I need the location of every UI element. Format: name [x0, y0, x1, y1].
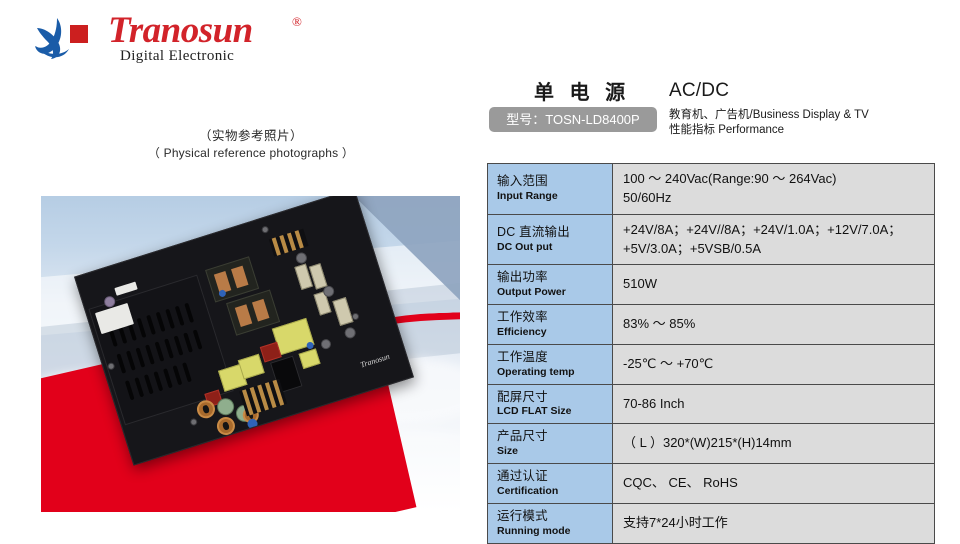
- spec-value-line1: 510W: [623, 275, 934, 294]
- spec-label-en: Running mode: [497, 525, 612, 538]
- capacitor-yellow: [299, 348, 321, 369]
- spec-label-en: Operating temp: [497, 366, 612, 379]
- spec-table: 输入范围 Input Range 100 ～ 240Vac(Range:90 ～…: [487, 163, 935, 544]
- spec-value-cell: CQC、 CE、 RoHS: [613, 464, 935, 504]
- table-row: 工作效率 Efficiency 83% ～ 85%: [488, 305, 935, 345]
- table-row: 运行模式 Running mode 支持7*24小时工作: [488, 503, 935, 543]
- spec-label-en: Size: [497, 445, 612, 458]
- spec-label-cn: 通过认证: [497, 469, 612, 485]
- spec-value-line1: +24V/8A；+24V//8A；+24V/1.0A；+12V/7.0A；: [623, 221, 934, 240]
- spec-label-cn: 工作效率: [497, 310, 612, 326]
- spec-label-cell: 输出功率 Output Power: [488, 265, 613, 305]
- spec-table-body: 输入范围 Input Range 100 ～ 240Vac(Range:90 ～…: [488, 164, 935, 544]
- acdc-title: AC/DC: [669, 80, 729, 102]
- spec-label-cell: 通过认证 Certification: [488, 464, 613, 504]
- spec-label-cell: DC 直流输出 DC Out put: [488, 214, 613, 265]
- photo-caption-cn: （实物参考照片）: [41, 128, 461, 145]
- spec-value-cell: 100 ～ 240Vac(Range:90 ～ 264Vac) 50/60Hz: [613, 164, 935, 215]
- table-row: DC 直流输出 DC Out put +24V/8A；+24V//8A；+24V…: [488, 214, 935, 265]
- inductor-coil: [215, 415, 238, 438]
- board-brand-silkscreen: Tranosun: [359, 352, 391, 370]
- spec-label-cell: 工作温度 Operating temp: [488, 344, 613, 384]
- spec-label-cn: 运行模式: [497, 509, 612, 525]
- spec-label-en: Input Range: [497, 190, 612, 203]
- table-row: 产品尺寸 Size （ L ）320*(W)215*(H)14mm: [488, 424, 935, 464]
- spec-label-cn: 输入范围: [497, 174, 612, 190]
- spec-label-en: Output Power: [497, 286, 612, 299]
- spec-value-cell: 83% ～ 85%: [613, 305, 935, 345]
- table-row: 配屏尺寸 LCD FLAT Size 70-86 Inch: [488, 384, 935, 424]
- spec-value-cell: 支持7*24小时工作: [613, 503, 935, 543]
- spec-label-cell: 产品尺寸 Size: [488, 424, 613, 464]
- spec-label-cell: 输入范围 Input Range: [488, 164, 613, 215]
- spec-value-cell: +24V/8A；+24V//8A；+24V/1.0A；+12V/7.0A； +5…: [613, 214, 935, 265]
- page-title: 单 电 源: [534, 76, 630, 105]
- table-row: 工作温度 Operating temp -25℃ ～ +70℃: [488, 344, 935, 384]
- spec-label-cn: 输出功率: [497, 270, 612, 286]
- spec-label-en: Certification: [497, 485, 612, 498]
- brand-subtitle: Digital Electronic: [120, 48, 234, 65]
- spec-label-en: LCD FLAT Size: [497, 405, 612, 418]
- spec-label-en: DC Out put: [497, 241, 612, 254]
- spec-value-line1: -25℃ ～ +70℃: [623, 355, 934, 374]
- spec-value-line1: CQC、 CE、 RoHS: [623, 474, 934, 493]
- spec-label-en: Efficiency: [497, 326, 612, 339]
- photo-caption-en: （ Physical reference photographs ）: [41, 145, 461, 161]
- photo-caption: （实物参考照片） （ Physical reference photograph…: [41, 128, 461, 161]
- spec-value-cell: （ L ）320*(W)215*(H)14mm: [613, 424, 935, 464]
- capacitor-yellow: [238, 354, 265, 380]
- spec-label-cn: DC 直流输出: [497, 225, 612, 241]
- spec-value-line1: 83% ～ 85%: [623, 315, 934, 334]
- registered-trademark-icon: ®: [292, 14, 302, 30]
- spec-value-line1: 支持7*24小时工作: [623, 514, 934, 533]
- table-row: 输入范围 Input Range 100 ～ 240Vac(Range:90 ～…: [488, 164, 935, 215]
- spec-label-cell: 运行模式 Running mode: [488, 503, 613, 543]
- spec-label-cell: 工作效率 Efficiency: [488, 305, 613, 345]
- brand-wordmark: Tranosun: [108, 12, 253, 49]
- table-row: 输出功率 Output Power 510W: [488, 265, 935, 305]
- product-photo: Tranosun: [41, 196, 460, 512]
- spec-value-line1: 70-86 Inch: [623, 395, 934, 414]
- performance-line: 性能指标 Performance: [669, 121, 784, 137]
- spec-label-cn: 配屏尺寸: [497, 390, 612, 406]
- spec-value-cell: 510W: [613, 265, 935, 305]
- spec-label-cell: 配屏尺寸 LCD FLAT Size: [488, 384, 613, 424]
- connector: [332, 297, 353, 326]
- application-line: 教育机、广告机/Business Display & TV: [669, 106, 869, 122]
- spec-value-cell: 70-86 Inch: [613, 384, 935, 424]
- spec-label-cn: 产品尺寸: [497, 429, 612, 445]
- spec-value-line2: 50/60Hz: [623, 189, 934, 208]
- spec-value-line1: 100 ～ 240Vac(Range:90 ～ 264Vac): [623, 170, 934, 189]
- spec-value-line2: +5V/3.0A；+5VSB/0.5A: [623, 240, 934, 259]
- table-row: 通过认证 Certification CQC、 CE、 RoHS: [488, 464, 935, 504]
- leaf-logo-icon: [33, 16, 99, 62]
- model-badge: 型号：TOSN-LD8400P: [489, 107, 657, 132]
- spec-label-cn: 工作温度: [497, 350, 612, 366]
- spec-value-line1: （ L ）320*(W)215*(H)14mm: [623, 434, 934, 453]
- spec-value-cell: -25℃ ～ +70℃: [613, 344, 935, 384]
- brand-header: Tranosun ® Digital Electronic: [30, 8, 330, 70]
